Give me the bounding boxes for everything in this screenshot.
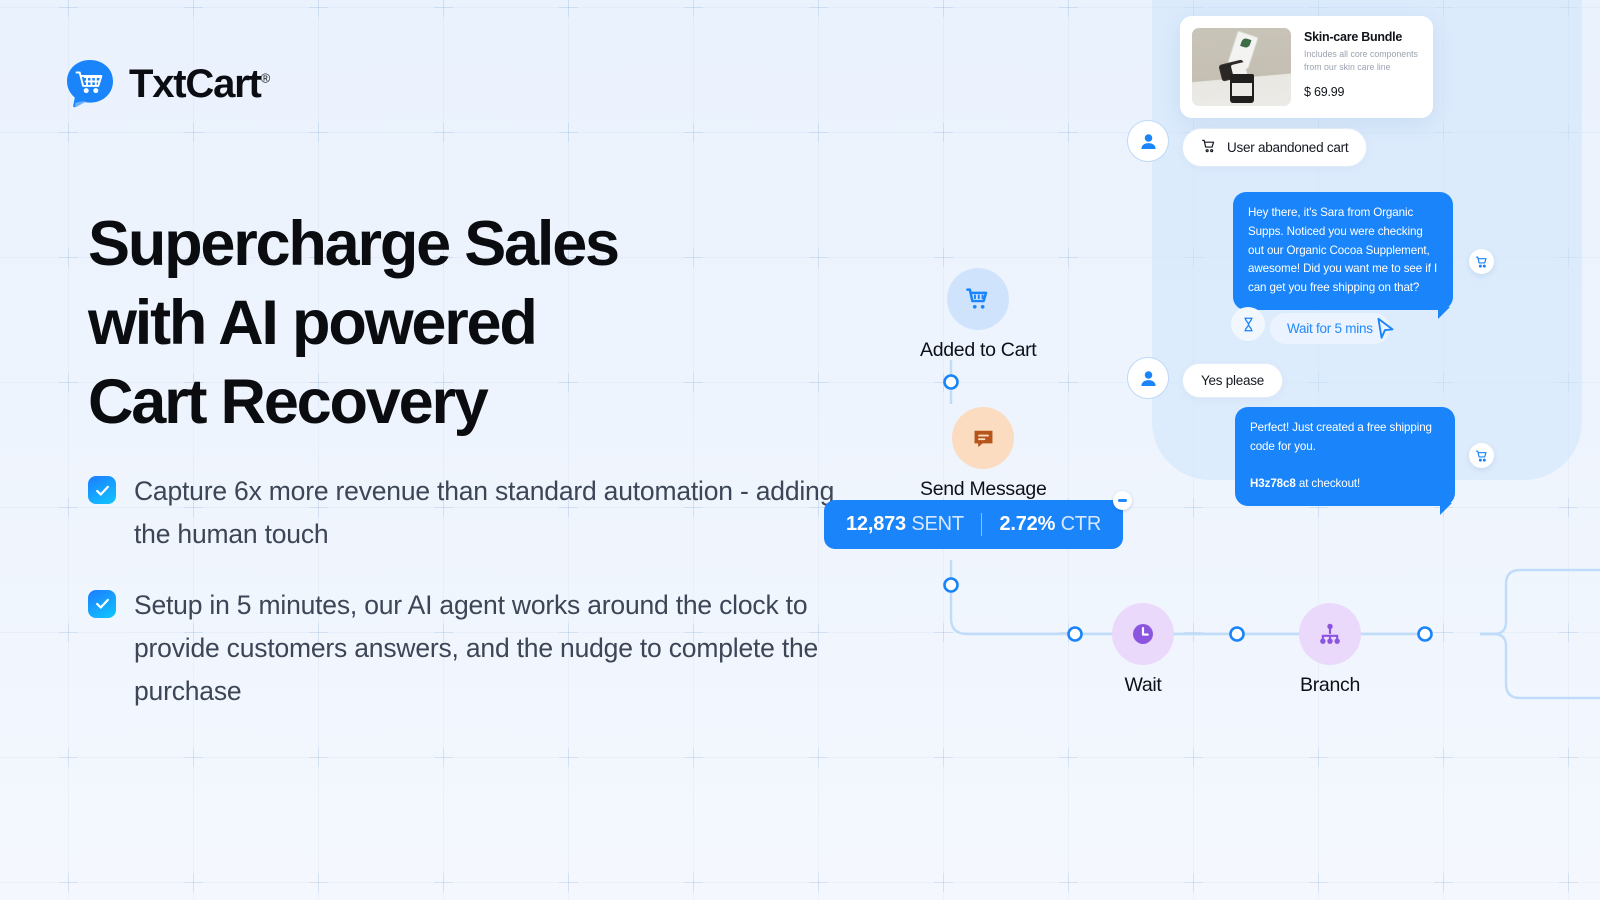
product-card[interactable]: Skin-care Bundle Includes all core compo… [1180, 16, 1433, 118]
flow-node-wait[interactable]: Wait [1112, 603, 1174, 697]
discount-code: H3z78c8 [1250, 477, 1296, 490]
product-image [1192, 28, 1291, 106]
bubble-tail [1440, 503, 1452, 515]
event-chip-abandoned-cart[interactable]: User abandoned cart [1182, 128, 1367, 167]
product-description: Includes all core components from our sk… [1304, 48, 1421, 74]
list-item: Setup in 5 minutes, our AI agent works a… [88, 584, 848, 713]
branch-hierarchy-icon [1299, 603, 1361, 665]
ctr-value: 2.72% [999, 513, 1055, 535]
ctr-label: CTR [1061, 513, 1102, 535]
flow-node-label: Send Message [920, 478, 1046, 501]
clock-icon [1112, 603, 1174, 665]
headline-line-3: Cart Recovery [88, 367, 487, 437]
flow-node-label: Wait [1112, 674, 1174, 697]
feature-text: Setup in 5 minutes, our AI agent works a… [134, 584, 848, 713]
message-bubble-incoming: Yes please [1182, 363, 1283, 398]
message-bubble-outgoing-code: Perfect! Just created a free shipping co… [1235, 407, 1455, 506]
sent-label: SENT [911, 513, 964, 535]
product-price: $ 69.99 [1304, 85, 1421, 99]
message-text-line-2: at checkout! [1296, 477, 1360, 490]
flow-node-added-to-cart[interactable]: Added to Cart [920, 268, 1036, 362]
stats-divider [981, 513, 983, 536]
shopping-cart-chat-bubble-icon [64, 58, 116, 110]
flow-node-label: Added to Cart [920, 339, 1036, 362]
mouse-pointer-icon [1372, 315, 1400, 348]
hero-canvas: TxtCart® Supercharge Sales with AI power… [0, 0, 1600, 900]
hourglass-icon [1231, 307, 1265, 341]
event-chip-label: User abandoned cart [1227, 140, 1348, 155]
checkbox-checked-icon [88, 590, 116, 618]
headline-line-2: with AI powered [88, 288, 536, 358]
message-icon [952, 407, 1014, 469]
checkbox-checked-icon [88, 476, 116, 504]
message-text: Hey there, it's Sara from Organic Supps.… [1248, 206, 1437, 294]
user-avatar-icon [1127, 357, 1169, 399]
cart-badge-icon [1469, 249, 1494, 274]
conversation-preview: Skin-care Bundle Includes all core compo… [1100, 0, 1600, 520]
wait-step-label: Wait for 5 mins [1287, 321, 1373, 336]
registered-trademark: ® [261, 70, 271, 85]
flow-node-send-message[interactable]: Send Message [920, 407, 1046, 501]
sent-stat: 12,873 SENT [846, 513, 964, 536]
cart-outline-icon [1201, 138, 1217, 157]
message-stats-banner[interactable]: 12,873 SENT 2.72% CTR [824, 500, 1123, 549]
message-bubble-outgoing: Hey there, it's Sara from Organic Supps.… [1233, 192, 1453, 310]
bubble-tail [1438, 307, 1450, 319]
brand-name: TxtCart® [129, 62, 270, 107]
page-title: Supercharge Sales with AI powered Cart R… [88, 205, 788, 441]
sent-value: 12,873 [846, 513, 906, 535]
headline-line-1: Supercharge Sales [88, 209, 618, 279]
list-item: Capture 6x more revenue than standard au… [88, 470, 848, 556]
flow-node-label: Branch [1299, 674, 1361, 697]
cart-badge-icon [1469, 443, 1494, 468]
feature-list: Capture 6x more revenue than standard au… [88, 470, 848, 741]
ctr-stat: 2.72% CTR [999, 513, 1101, 536]
user-avatar-icon [1127, 120, 1169, 162]
feature-text: Capture 6x more revenue than standard au… [134, 470, 848, 556]
message-text-line-1: Perfect! Just created a free shipping co… [1250, 421, 1432, 453]
product-title: Skin-care Bundle [1304, 30, 1421, 44]
flow-node-branch[interactable]: Branch [1299, 603, 1361, 697]
brand-logo[interactable]: TxtCart® [64, 58, 270, 110]
message-text: Yes please [1201, 373, 1264, 388]
shopping-cart-icon [947, 268, 1009, 330]
